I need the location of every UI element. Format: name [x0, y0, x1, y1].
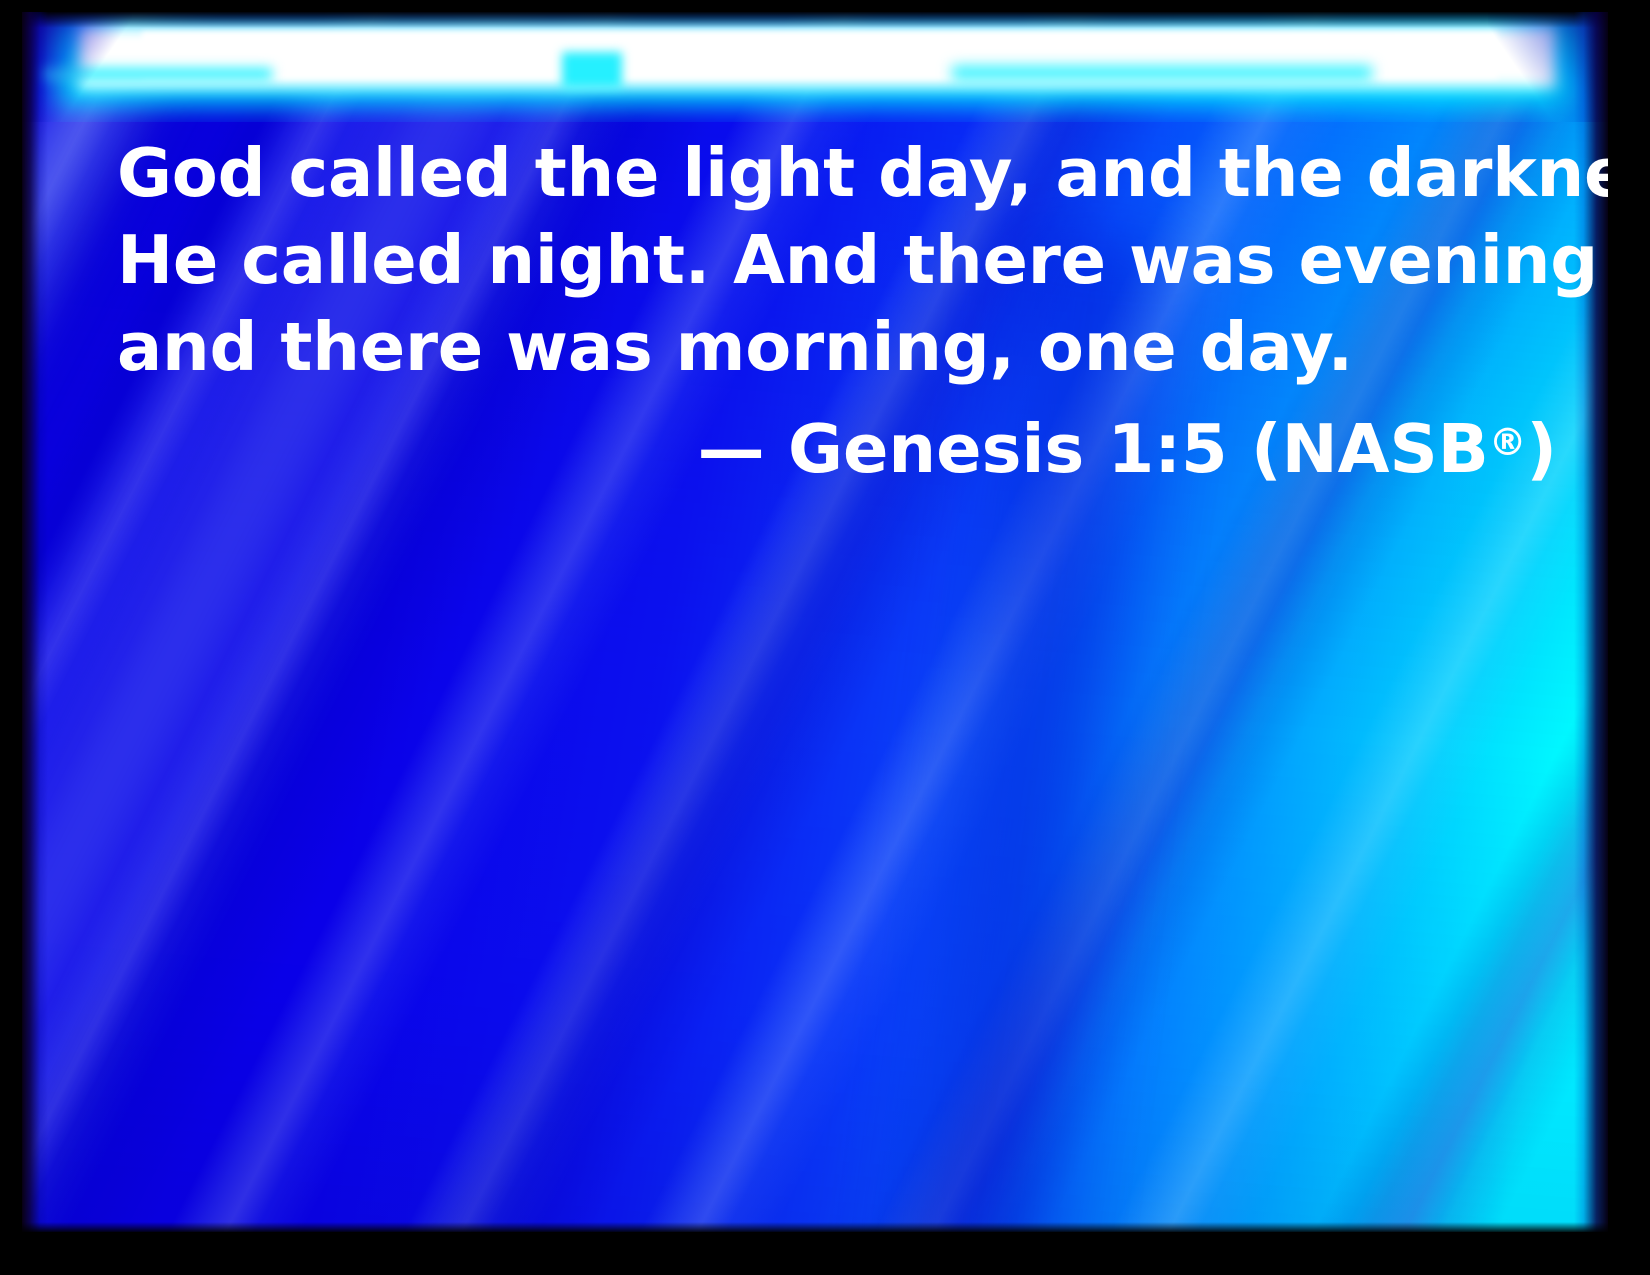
- panel-edge-left: [22, 12, 48, 1232]
- artwork-panel: God called the light day, and the darkne…: [22, 12, 1608, 1232]
- panel-edge-bottom: [22, 1222, 1608, 1232]
- panel-edge-right: [1574, 12, 1608, 1232]
- panel-edge-top: [22, 12, 1608, 28]
- top-glow-notch: [562, 52, 622, 88]
- top-glow-bar: [22, 12, 1608, 122]
- verse-slide: God called the light day, and the darkne…: [0, 0, 1650, 1275]
- top-glow-streak-right: [952, 66, 1372, 80]
